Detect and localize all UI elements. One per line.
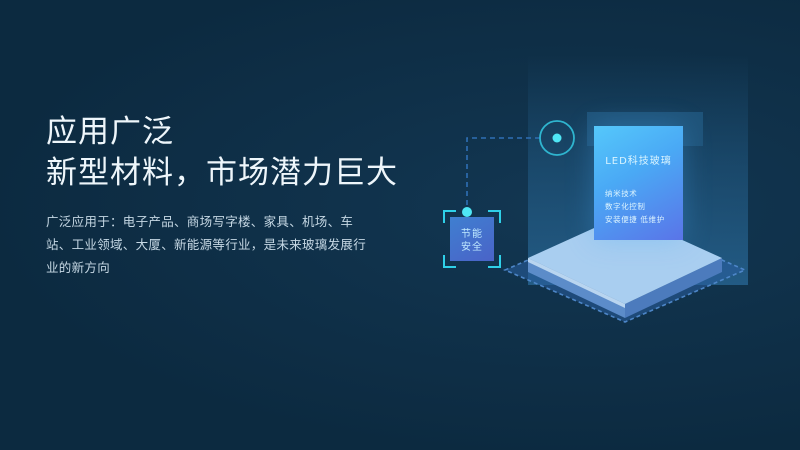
- connector-dashed-path: [467, 138, 540, 210]
- feature-item: 纳米技术: [605, 187, 665, 200]
- led-glass-feature-list: 纳米技术 数字化控制 安装便捷 低维护: [605, 187, 665, 226]
- bracket-corner-top-right: [488, 210, 501, 223]
- bracket-corner-bottom-right: [488, 255, 501, 268]
- page-title: 应用广泛 新型材料，市场潜力巨大: [46, 112, 466, 194]
- energy-safety-badge: 节能 安全: [443, 210, 501, 268]
- bracket-corner-top-left: [443, 210, 456, 223]
- badge-line-2: 安全: [450, 241, 494, 254]
- feature-item: 安装便捷 低维护: [605, 213, 665, 226]
- headline-line-2: 新型材料，市场潜力巨大: [46, 153, 466, 194]
- body-paragraph: 广泛应用于：电子产品、商场写字楼、家具、机场、车站、工业领域、大厦、新能源等行业…: [46, 210, 376, 279]
- led-glass-panel: LED科技玻璃 纳米技术 数字化控制 安装便捷 低维护: [594, 126, 683, 240]
- feature-item: 数字化控制: [605, 200, 665, 213]
- headline-line-1: 应用广泛: [46, 114, 174, 150]
- slide-canvas: 应用广泛 新型材料，市场潜力巨大 广泛应用于：电子产品、商场写字楼、家具、机场、…: [0, 0, 800, 450]
- badge-line-1: 节能: [450, 228, 494, 241]
- copy-block: 应用广泛 新型材料，市场潜力巨大 广泛应用于：电子产品、商场写字楼、家具、机场、…: [46, 112, 466, 279]
- led-glass-title: LED科技玻璃: [594, 152, 683, 167]
- bracket-corner-bottom-left: [443, 255, 456, 268]
- badge-label: 节能 安全: [450, 228, 494, 254]
- illustration: LED科技玻璃 纳米技术 数字化控制 安装便捷 低维护 节能 安全: [420, 0, 800, 450]
- node-dot: [553, 134, 562, 143]
